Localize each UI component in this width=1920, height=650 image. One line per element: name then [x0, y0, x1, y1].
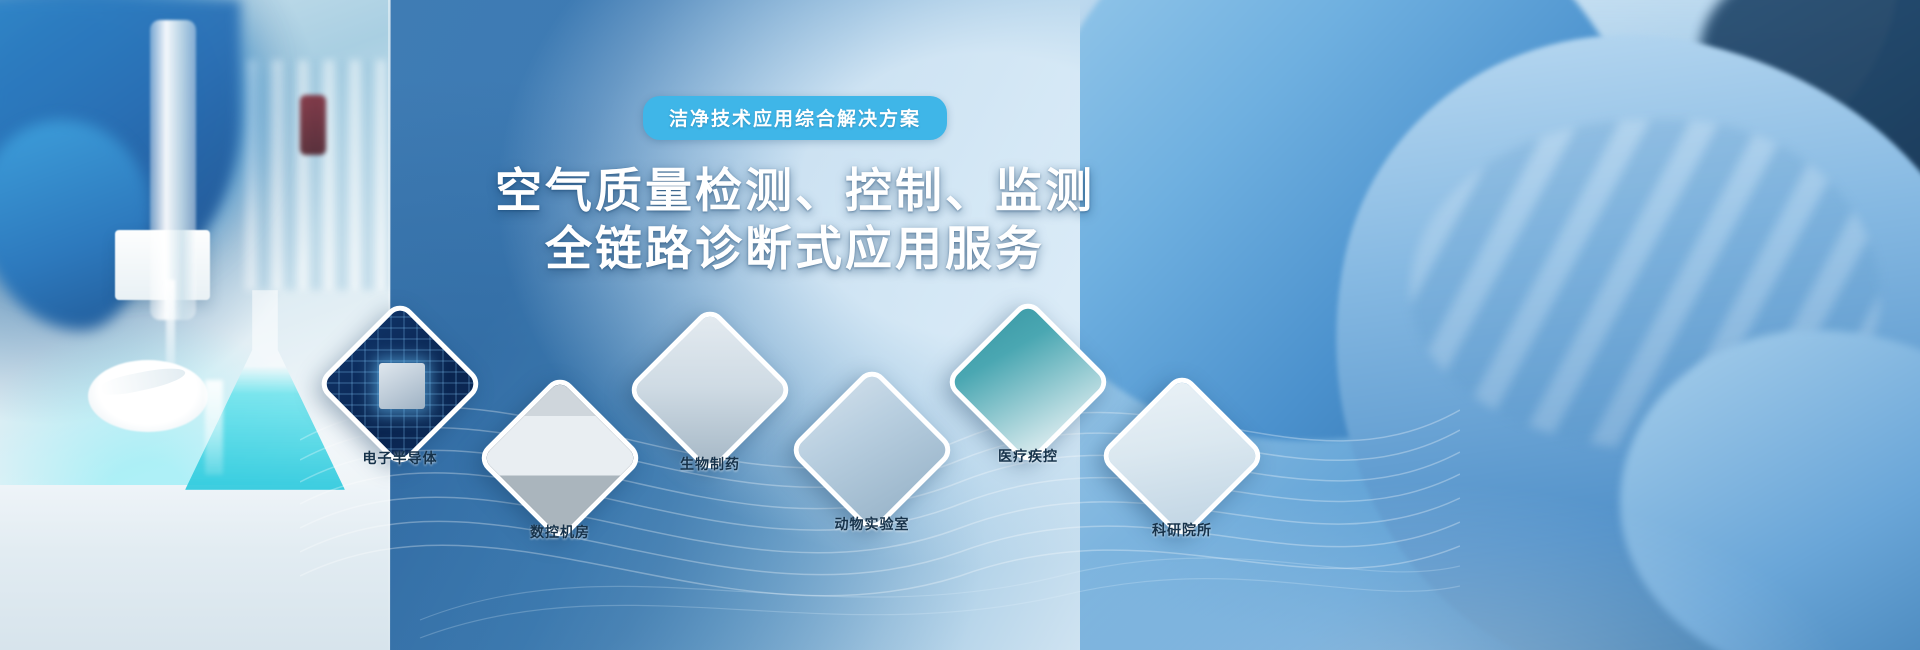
industry-card-biopharma[interactable]: 生物制药	[650, 330, 770, 450]
industry-card-animal-lab[interactable]: 动物实验室	[812, 390, 932, 510]
card-diamond-frame	[625, 305, 795, 475]
industry-card-label: 数控机房	[460, 522, 660, 542]
industry-card-server-room[interactable]: 数控机房	[500, 398, 620, 518]
hero-copy-block: 洁净技术应用综合解决方案 空气质量检测、控制、监测 全链路诊断式应用服务	[430, 96, 1160, 279]
industry-card-medical-cdc[interactable]: 医疗疾控	[968, 322, 1088, 442]
headline-line-2: 全链路诊断式应用服务	[430, 220, 1160, 278]
biopharma-icon	[625, 305, 795, 475]
card-diamond-frame	[1097, 371, 1267, 541]
industry-card-label: 电子半导体	[300, 448, 500, 468]
industry-card-electronics[interactable]: 电子半导体	[340, 324, 460, 444]
research-institute-icon	[1097, 371, 1267, 541]
semiconductor-chip-icon	[315, 299, 485, 469]
medical-cdc-icon	[943, 297, 1113, 467]
headline-line-1: 空气质量检测、控制、监测	[430, 162, 1160, 220]
card-diamond-frame	[315, 299, 485, 469]
pipette-icon	[150, 20, 196, 320]
industry-card-label: 动物实验室	[772, 514, 972, 534]
page-title: 空气质量检测、控制、监测 全链路诊断式应用服务	[430, 162, 1160, 279]
industry-card-research[interactable]: 科研院所	[1122, 396, 1242, 516]
industry-card-label: 医疗疾控	[928, 446, 1128, 466]
red-vial-decor	[300, 95, 326, 155]
card-diamond-frame	[943, 297, 1113, 467]
industry-card-label: 科研院所	[1082, 520, 1282, 540]
hero-banner: 洁净技术应用综合解决方案 空气质量检测、控制、监测 全链路诊断式应用服务 电子半…	[0, 0, 1920, 650]
flask-highlight	[205, 380, 223, 475]
industry-cards-row: 电子半导体 数控机房 生物制药 动物实验室	[300, 288, 1300, 588]
industry-card-label: 生物制药	[610, 454, 810, 474]
tagline-badge: 洁净技术应用综合解决方案	[643, 96, 947, 140]
